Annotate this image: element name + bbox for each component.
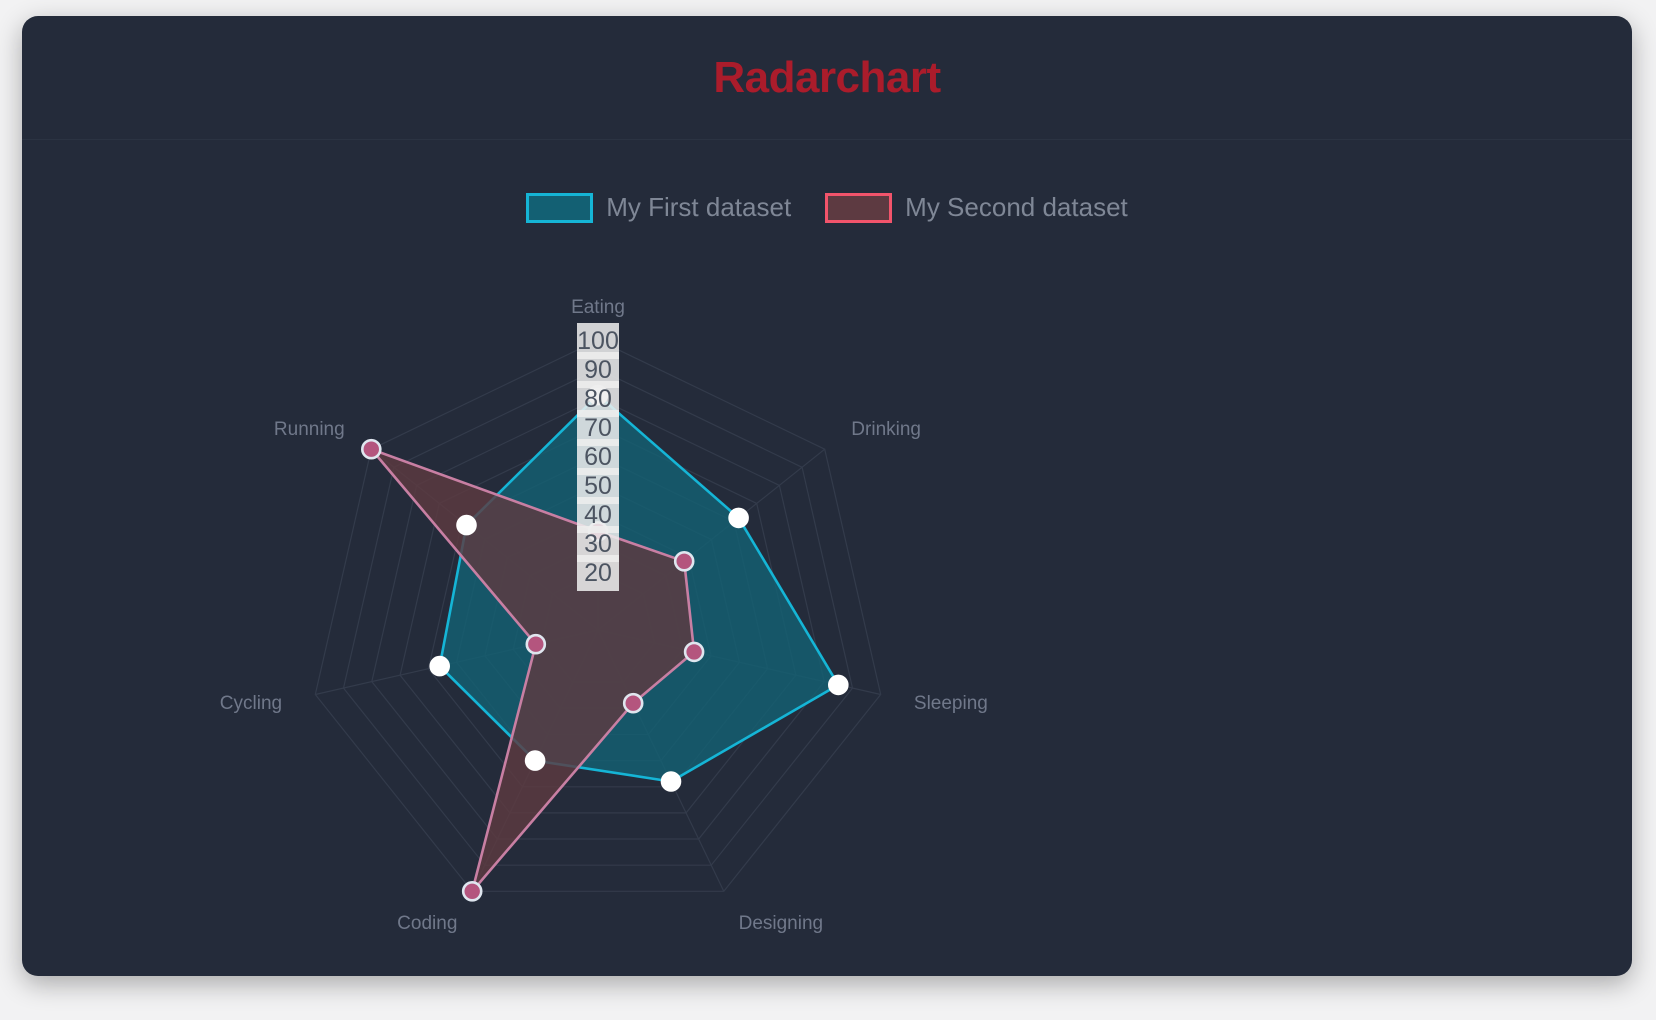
chart-window: Radarchart My First dataset My Second da… [22,16,1632,976]
axis-category-label: Drinking [851,419,921,440]
radar-plot-area[interactable]: EatingDrinkingSleepingDesigningCodingCyc… [22,16,1632,976]
tick-label: 30 [584,530,612,558]
data-point[interactable] [675,552,693,570]
axis-category-label: Designing [739,913,824,934]
data-point[interactable] [662,773,680,791]
tick-label: 100 [577,327,619,355]
radar-tick-labels: 2030405060708090100 [577,323,619,591]
axis-category-label: Coding [397,913,457,934]
data-point[interactable] [829,676,847,694]
data-point[interactable] [527,635,545,653]
tick-label: 90 [584,356,612,384]
data-point[interactable] [624,694,642,712]
data-point[interactable] [431,657,449,675]
axis-category-label: Running [274,419,345,440]
tick-label: 50 [584,472,612,500]
tick-label: 60 [584,443,612,471]
tick-label: 40 [584,501,612,529]
data-point[interactable] [526,752,544,770]
data-point[interactable] [362,440,380,458]
tick-label: 70 [584,414,612,442]
radar-chart-svg[interactable]: EatingDrinkingSleepingDesigningCodingCyc… [22,16,1632,976]
axis-category-label: Cycling [220,693,282,714]
data-point[interactable] [458,516,476,534]
tick-label: 20 [584,559,612,587]
axis-category-label: Eating [571,297,625,318]
axis-category-label: Sleeping [914,693,988,714]
data-point[interactable] [463,882,481,900]
data-point[interactable] [730,509,748,527]
tick-label: 80 [584,385,612,413]
data-point[interactable] [685,643,703,661]
